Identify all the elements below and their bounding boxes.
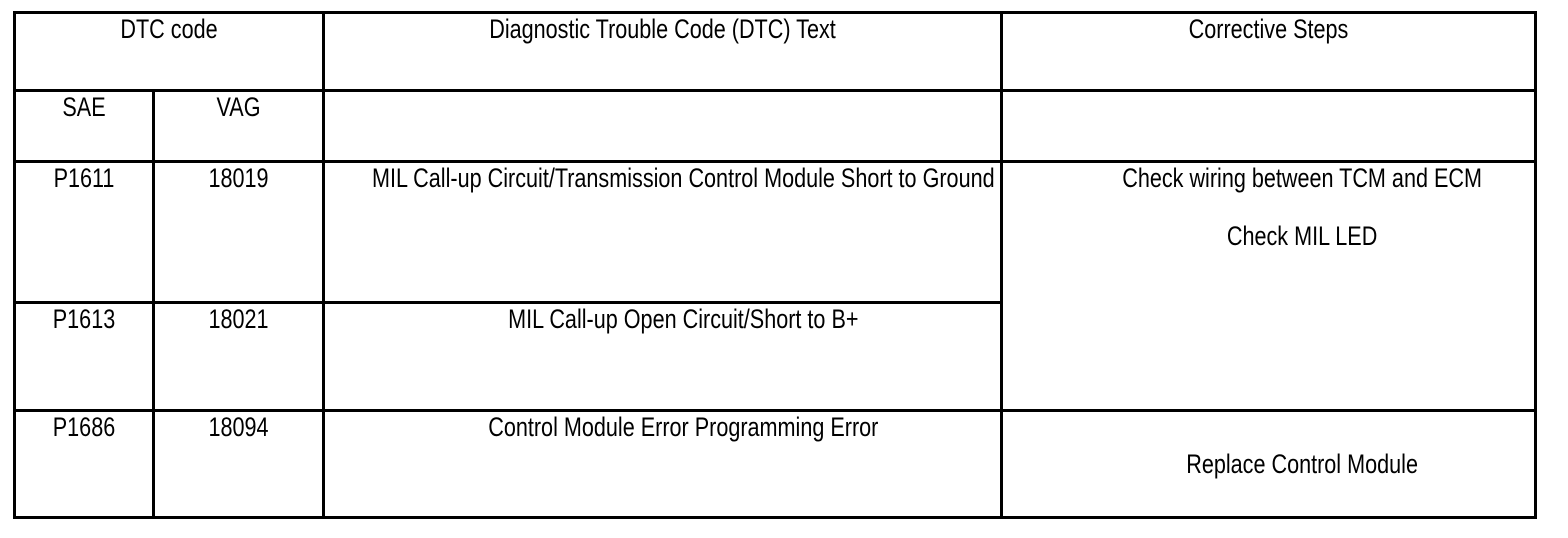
cell-dtc-text-label: MIL Call-up Open Circuit/Short to B+	[325, 304, 1029, 334]
column-header-corrective-steps: Corrective Steps	[1002, 13, 1536, 91]
cell-sae-code-label: P1611	[16, 163, 152, 193]
column-subheader-sae: SAE	[15, 91, 154, 162]
cell-sae-code: P1686	[15, 411, 154, 518]
column-header-dtc-text-label: Diagnostic Trouble Code (DTC) Text	[325, 14, 1000, 44]
column-subheader-vag-label: VAG	[155, 92, 322, 122]
table-header-row-primary: DTC code Diagnostic Trouble Code (DTC) T…	[15, 13, 1536, 91]
cell-dtc-text: MIL Call-up Open Circuit/Short to B+	[324, 303, 1002, 411]
cell-vag-code: 18019	[154, 162, 324, 303]
cell-sae-code-label: P1613	[16, 304, 152, 334]
column-subheader-corrective-empty	[1002, 91, 1536, 162]
cell-sae-code-label: P1686	[16, 412, 152, 442]
cell-vag-code-label: 18021	[155, 304, 322, 334]
column-subheader-dtc-text-empty	[324, 91, 1002, 162]
cell-sae-code: P1611	[15, 162, 154, 303]
column-subheader-sae-label: SAE	[16, 92, 152, 122]
column-subheader-vag: VAG	[154, 91, 324, 162]
cell-vag-code-label: 18094	[155, 412, 322, 442]
table-row: P1686 18094 Control Module Error Program…	[15, 411, 1536, 518]
corrective-steps-spacer	[1003, 193, 1534, 221]
cell-corrective-steps-line2: Check MIL LED	[1003, 221, 1568, 251]
dtc-reference-table: DTC code Diagnostic Trouble Code (DTC) T…	[13, 11, 1537, 519]
cell-dtc-text: MIL Call-up Circuit/Transmission Control…	[324, 162, 1002, 303]
cell-dtc-text-label: Control Module Error Programming Error	[325, 412, 1029, 442]
cell-vag-code-label: 18019	[155, 163, 322, 193]
table-row: P1611 18019 MIL Call-up Circuit/Transmis…	[15, 162, 1536, 303]
column-header-dtc-text: Diagnostic Trouble Code (DTC) Text	[324, 13, 1002, 91]
cell-dtc-text-label: MIL Call-up Circuit/Transmission Control…	[325, 163, 1029, 193]
cell-vag-code: 18021	[154, 303, 324, 411]
table-header-row-secondary: SAE VAG	[15, 91, 1536, 162]
cell-corrective-steps: Replace Control Module	[1002, 411, 1536, 518]
cell-vag-code: 18094	[154, 411, 324, 518]
cell-dtc-text: Control Module Error Programming Error	[324, 411, 1002, 518]
column-header-dtc-code-label: DTC code	[16, 14, 322, 44]
cell-corrective-steps-line1: Check wiring between TCM and ECM	[1003, 163, 1568, 193]
column-header-corrective-steps-label: Corrective Steps	[1003, 14, 1534, 44]
cell-sae-code: P1613	[15, 303, 154, 411]
column-header-dtc-code: DTC code	[15, 13, 324, 91]
document-canvas: DTC code Diagnostic Trouble Code (DTC) T…	[0, 0, 1568, 538]
cell-corrective-steps-label: Replace Control Module	[1003, 449, 1568, 479]
cell-corrective-steps-merged: Check wiring between TCM and ECM Check M…	[1002, 162, 1536, 411]
